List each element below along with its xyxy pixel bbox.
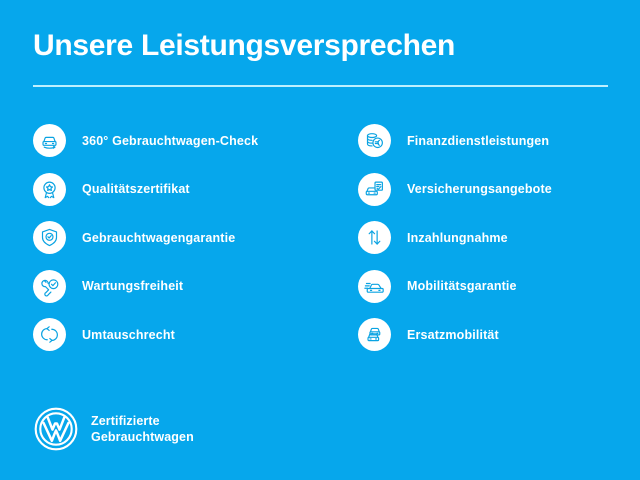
list-item-label: 360° Gebrauchtwagen-Check xyxy=(82,134,258,148)
list-item-label: Umtauschrecht xyxy=(82,328,175,342)
volkswagen-logo-icon xyxy=(33,406,79,452)
list-item: Finanzdienstleistungen xyxy=(358,124,640,157)
list-item: Inzahlungnahme xyxy=(358,221,640,254)
list-item: Mobilitätsgarantie xyxy=(358,270,640,303)
header: Unsere Leistungsversprechen xyxy=(33,28,608,64)
brand-text-line2: Gebrauchtwagen xyxy=(91,430,194,444)
title-divider xyxy=(33,85,608,87)
list-item-label: Ersatzmobilität xyxy=(407,328,499,342)
wrench-check-icon xyxy=(33,270,66,303)
list-item: Gebrauchtwagengarantie xyxy=(33,221,323,254)
car-360-check-icon xyxy=(33,124,66,157)
promise-poster: Unsere Leistungsversprechen 360° Gebrauc… xyxy=(0,0,640,480)
arrows-up-down-icon xyxy=(358,221,391,254)
list-item: Qualitätszertifikat xyxy=(33,173,323,206)
coins-euro-icon xyxy=(358,124,391,157)
list-item-label: Versicherungsangebote xyxy=(407,182,552,196)
brand-text-line1: Zertifizierte xyxy=(91,414,160,428)
car-speed-icon xyxy=(358,270,391,303)
list-item: 360° Gebrauchtwagen-Check xyxy=(33,124,323,157)
list-item-label: Wartungsfreiheit xyxy=(82,279,183,293)
page-title: Unsere Leistungsversprechen xyxy=(33,28,608,64)
list-item-label: Gebrauchtwagengarantie xyxy=(82,231,235,245)
list-item: Umtauschrecht xyxy=(33,318,323,351)
car-document-check-icon xyxy=(358,173,391,206)
two-cars-icon xyxy=(358,318,391,351)
exchange-arrows-icon xyxy=(33,318,66,351)
promise-column-left: 360° Gebrauchtwagen-Check Qualitätszerti… xyxy=(33,124,323,367)
promise-column-right: Finanzdienstleistungen Versicherungsange… xyxy=(358,124,640,367)
brand-text: Zertifizierte Gebrauchtwagen xyxy=(91,413,194,445)
list-item: Wartungsfreiheit xyxy=(33,270,323,303)
award-rosette-icon xyxy=(33,173,66,206)
list-item-label: Qualitätszertifikat xyxy=(82,182,190,196)
list-item: Ersatzmobilität xyxy=(358,318,640,351)
brand-lockup: Zertifizierte Gebrauchtwagen xyxy=(33,406,194,452)
list-item-label: Mobilitätsgarantie xyxy=(407,279,517,293)
list-item-label: Finanzdienstleistungen xyxy=(407,134,549,148)
shield-check-icon xyxy=(33,221,66,254)
car-document-check-item: Versicherungsangebote xyxy=(358,173,640,206)
list-item-label: Inzahlungnahme xyxy=(407,231,508,245)
